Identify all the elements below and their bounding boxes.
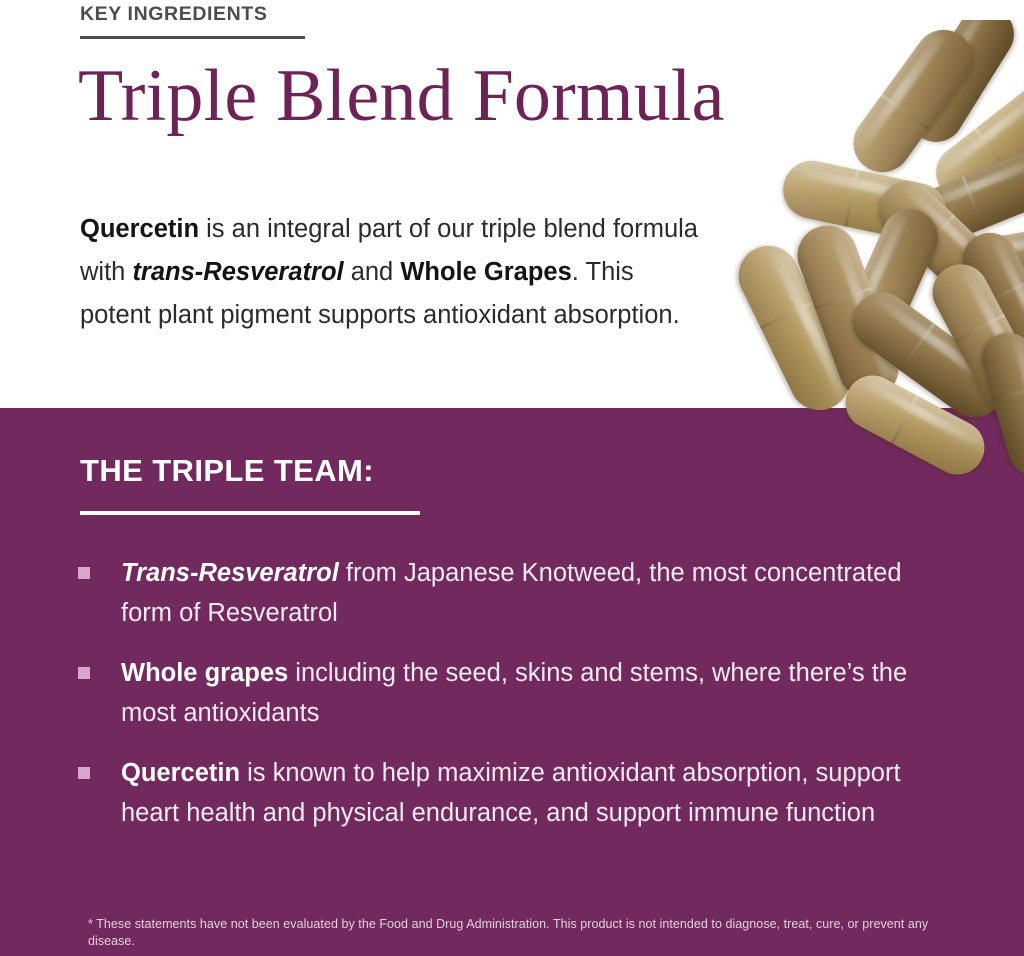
- square-bullet-icon: [78, 667, 90, 679]
- bullet-lead-text: Trans-Resveratrol: [121, 559, 339, 587]
- bullet-lead-text: Quercetin: [121, 759, 240, 787]
- intro-term-whole-grapes: Whole Grapes: [400, 258, 571, 286]
- square-bullet-icon: [78, 767, 90, 779]
- eyebrow-rule: [80, 36, 305, 39]
- section-title-rule: [80, 511, 420, 515]
- section-title: THE TRIPLE TEAM:: [80, 452, 374, 490]
- key-ingredients-panel: KEY INGREDIENTS Triple Blend Formula Que…: [0, 0, 1024, 408]
- intro-term-quercetin: Quercetin: [80, 215, 199, 243]
- triple-team-panel: THE TRIPLE TEAM: Trans-Resveratrol from …: [0, 408, 1024, 956]
- intro-paragraph: Quercetin is an integral part of our tri…: [80, 208, 698, 337]
- intro-text-2: and: [344, 258, 401, 286]
- bullet-lead-text: Whole grapes: [121, 659, 288, 687]
- list-item: Whole grapes including the seed, skins a…: [78, 653, 958, 733]
- product-ingredients-infographic: THE TRIPLE TEAM: Trans-Resveratrol from …: [0, 0, 1024, 956]
- fda-disclaimer: * These statements have not been evaluat…: [88, 916, 968, 950]
- square-bullet-icon: [78, 567, 90, 579]
- eyebrow-label: KEY INGREDIENTS: [80, 1, 267, 27]
- intro-term-resveratrol: trans-Resveratrol: [132, 258, 343, 286]
- list-item: Trans-Resveratrol from Japanese Knotweed…: [78, 553, 958, 633]
- triple-team-bullet-list: Trans-Resveratrol from Japanese Knotweed…: [78, 553, 958, 853]
- page-title: Triple Blend Formula: [78, 54, 725, 138]
- list-item: Quercetin is known to help maximize anti…: [78, 753, 958, 833]
